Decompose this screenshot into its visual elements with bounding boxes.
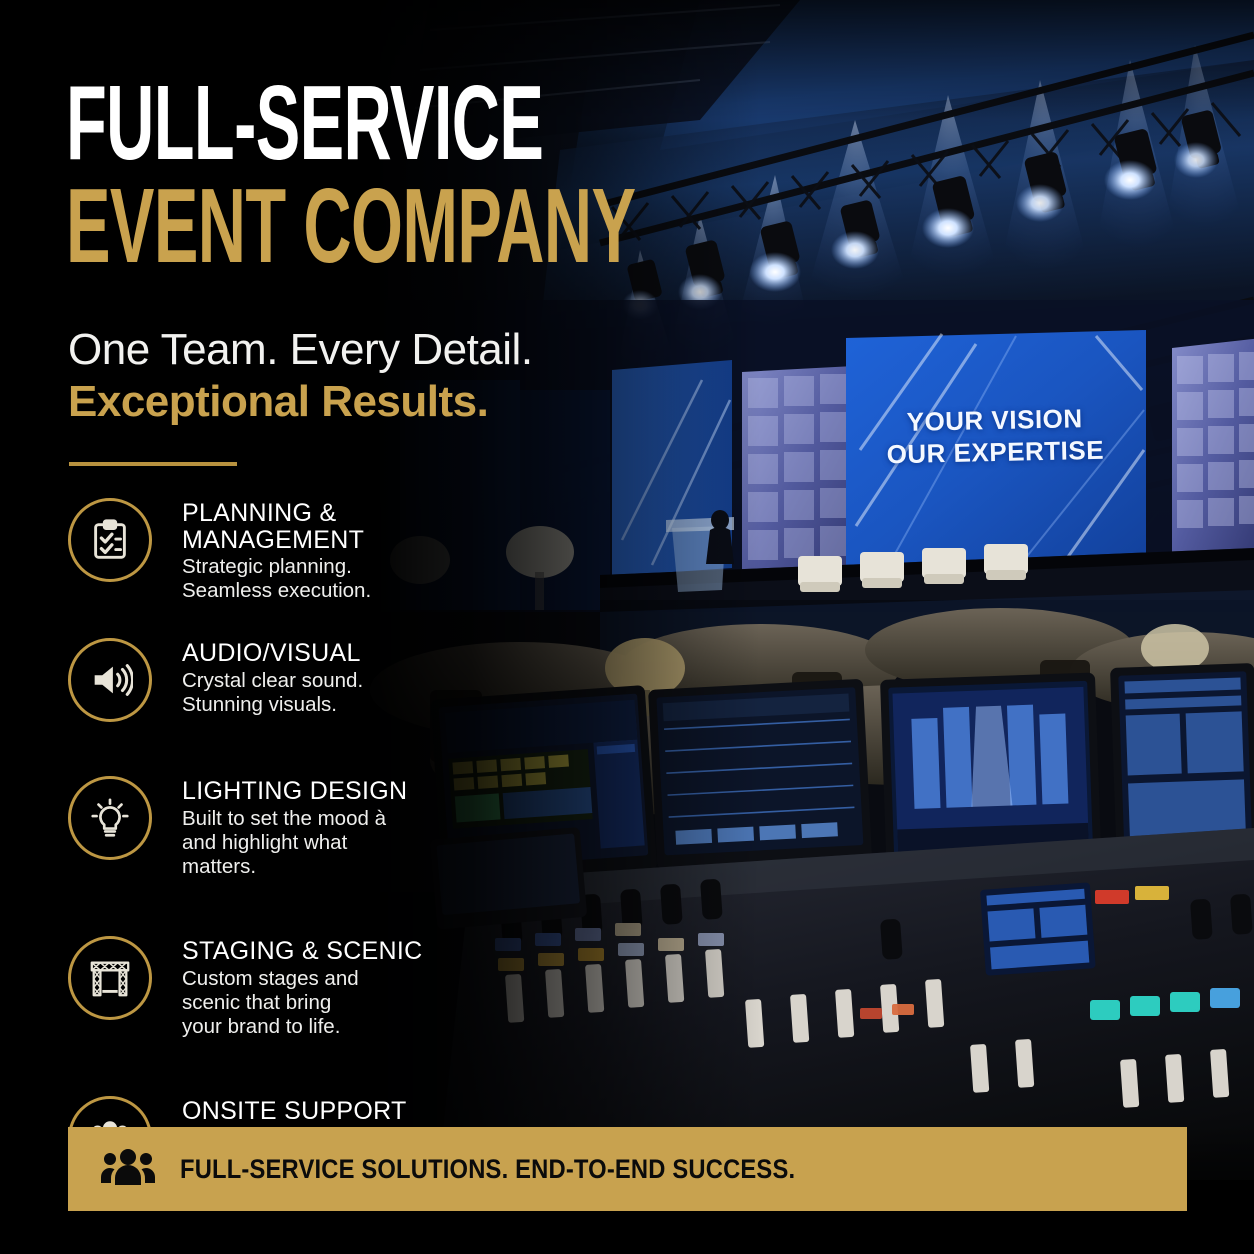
feature-desc-line: and highlight what — [182, 831, 488, 855]
feature-title: ONSITE SUPPORT — [182, 1098, 488, 1125]
feature-desc-line: Seamless execution. — [182, 579, 488, 603]
features-list: PLANNING & MANAGEMENT Strategic planning… — [68, 498, 488, 1212]
feature-desc-line: Strategic planning. — [182, 555, 488, 579]
people-group-icon — [100, 1147, 156, 1191]
feature-item-lighting: LIGHTING DESIGN Built to set the mood à … — [68, 776, 488, 916]
feature-desc-line: matters. — [182, 855, 488, 879]
page-title: FULL-SERVICE EVENT COMPANY — [66, 74, 970, 275]
gold-divider — [69, 462, 237, 466]
feature-desc-line: Built to set the mood à — [182, 807, 488, 831]
feature-desc-line: Custom stages and — [182, 967, 488, 991]
feature-title: AUDIO/VISUAL — [182, 640, 488, 667]
lightbulb-icon — [68, 776, 152, 860]
footer-tagline: FULL-SERVICE SOLUTIONS. END-TO-END SUCCE… — [180, 1154, 795, 1185]
feature-item-staging: STAGING & SCENIC Custom stages and sceni… — [68, 936, 488, 1076]
footer-banner: FULL-SERVICE SOLUTIONS. END-TO-END SUCCE… — [68, 1127, 1187, 1211]
subheadline-line-1: One Team. Every Detail. — [68, 325, 533, 374]
feature-desc-line: scenic that bring — [182, 991, 488, 1015]
feature-desc-line: your brand to life. — [182, 1015, 488, 1039]
feature-item-planning: PLANNING & MANAGEMENT Strategic planning… — [68, 498, 488, 618]
feature-title: LIGHTING DESIGN — [182, 778, 488, 805]
feature-item-audio-visual: AUDIO/VISUAL Crystal clear sound. Stunni… — [68, 638, 488, 756]
stage-truss-icon — [68, 936, 152, 1020]
feature-title: STAGING & SCENIC — [182, 938, 488, 965]
headline-line-1: FULL-SERVICE — [66, 74, 635, 173]
speaker-volume-icon — [68, 638, 152, 722]
clipboard-checklist-icon — [68, 498, 152, 582]
feature-desc-line: Crystal clear sound. — [182, 669, 488, 693]
subheadline-line-2: Exceptional Results. — [68, 377, 533, 426]
feature-desc-line: Stunning visuals. — [182, 693, 488, 717]
headline-line-2: EVENT COMPANY — [66, 177, 635, 276]
subheadline: One Team. Every Detail. Exceptional Resu… — [68, 325, 533, 427]
marketing-poster: YOUR VISION OUR EXPERTISE FULL-SERVICE E… — [0, 0, 1254, 1254]
feature-title: PLANNING & MANAGEMENT — [182, 500, 488, 553]
